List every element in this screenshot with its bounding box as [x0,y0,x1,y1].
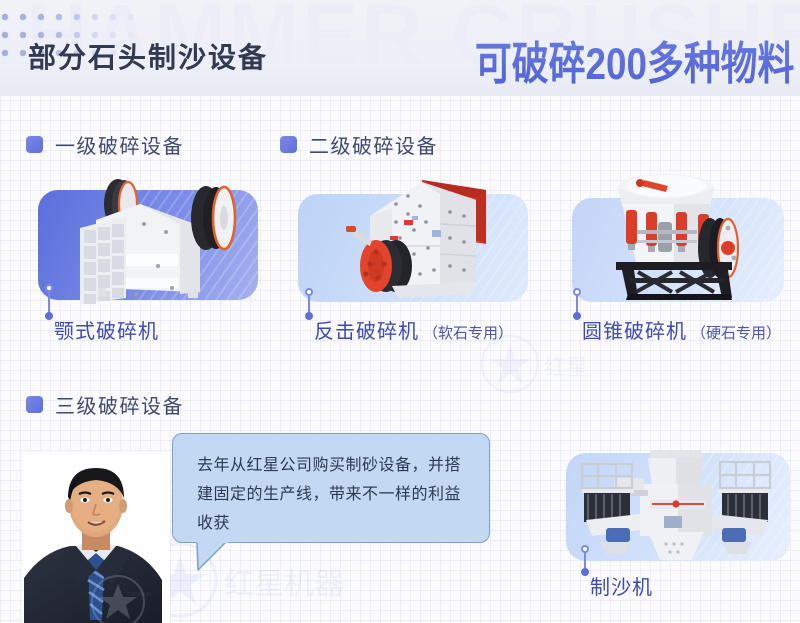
section-label-stage3: 三级破碎设备 [26,390,184,419]
caption-sand-maker: 制沙机 [590,571,657,600]
pin-line [584,552,586,569]
testimonial-quote: 去年从红星公司购买制砂设备，并搭建固定的生产线，带来不一样的利益收获 [197,451,475,538]
testimonial-bubble: 去年从红星公司购买制砂设备，并搭建固定的生产线，带来不一样的利益收获 [172,433,490,543]
square-chip-icon [26,396,43,413]
card-background [566,453,790,561]
caption-note: （硬石专用） [691,322,781,343]
caption-note: （软石专用） [423,322,513,343]
svg-text:红星机器: 红星机器 [224,568,344,601]
caption-name: 圆锥破碎机 [582,315,687,344]
pin-dot-bottom [581,568,589,576]
pin-dot-bottom [305,312,313,320]
caption-name: 颚式破碎机 [54,315,159,344]
pin-line [308,295,310,313]
product-card-impact-crusher[interactable] [298,194,528,302]
caption-impact-crusher: 反击破碎机 （软石专用） [314,315,513,344]
section-label-stage2: 二级破碎设备 [280,130,438,159]
pin-line [48,291,50,313]
header-subtitle: 可破碎200多种物料 [474,27,794,92]
card-background [572,198,784,302]
header-banner: HAMMER CRUSHER HAMMER CRUSHER 部分石头制沙设备 可… [0,0,800,96]
square-chip-icon [280,136,297,153]
caption-name: 反击破碎机 [314,315,419,344]
caption-name: 制沙机 [590,571,653,600]
square-chip-icon [26,136,43,153]
svg-text:红星: 红星 [544,355,588,380]
caption-jaw-crusher: 颚式破碎机 [54,315,163,344]
card-background [298,194,528,302]
section-label-text: 一级破碎设备 [55,130,184,159]
pin-dot-bottom [45,312,53,320]
caption-cone-crusher: 圆锥破碎机 （硬石专用） [582,315,781,344]
page-root: HAMMER CRUSHER HAMMER CRUSHER 部分石头制沙设备 可… [0,0,800,623]
page-title: 部分石头制沙设备 [28,36,268,76]
pin-dot-bottom [573,312,581,320]
card-background [38,190,258,300]
product-card-jaw-crusher[interactable] [38,190,258,300]
customer-photo [22,452,170,623]
section-label-stage1: 一级破碎设备 [26,130,184,159]
header-fade [0,88,800,96]
product-card-sand-maker[interactable] [566,453,790,561]
product-card-cone-crusher[interactable] [572,198,784,302]
pin-line [576,295,578,313]
section-label-text: 二级破碎设备 [309,130,438,159]
section-label-text: 三级破碎设备 [55,390,184,419]
bubble-tail [196,542,232,572]
